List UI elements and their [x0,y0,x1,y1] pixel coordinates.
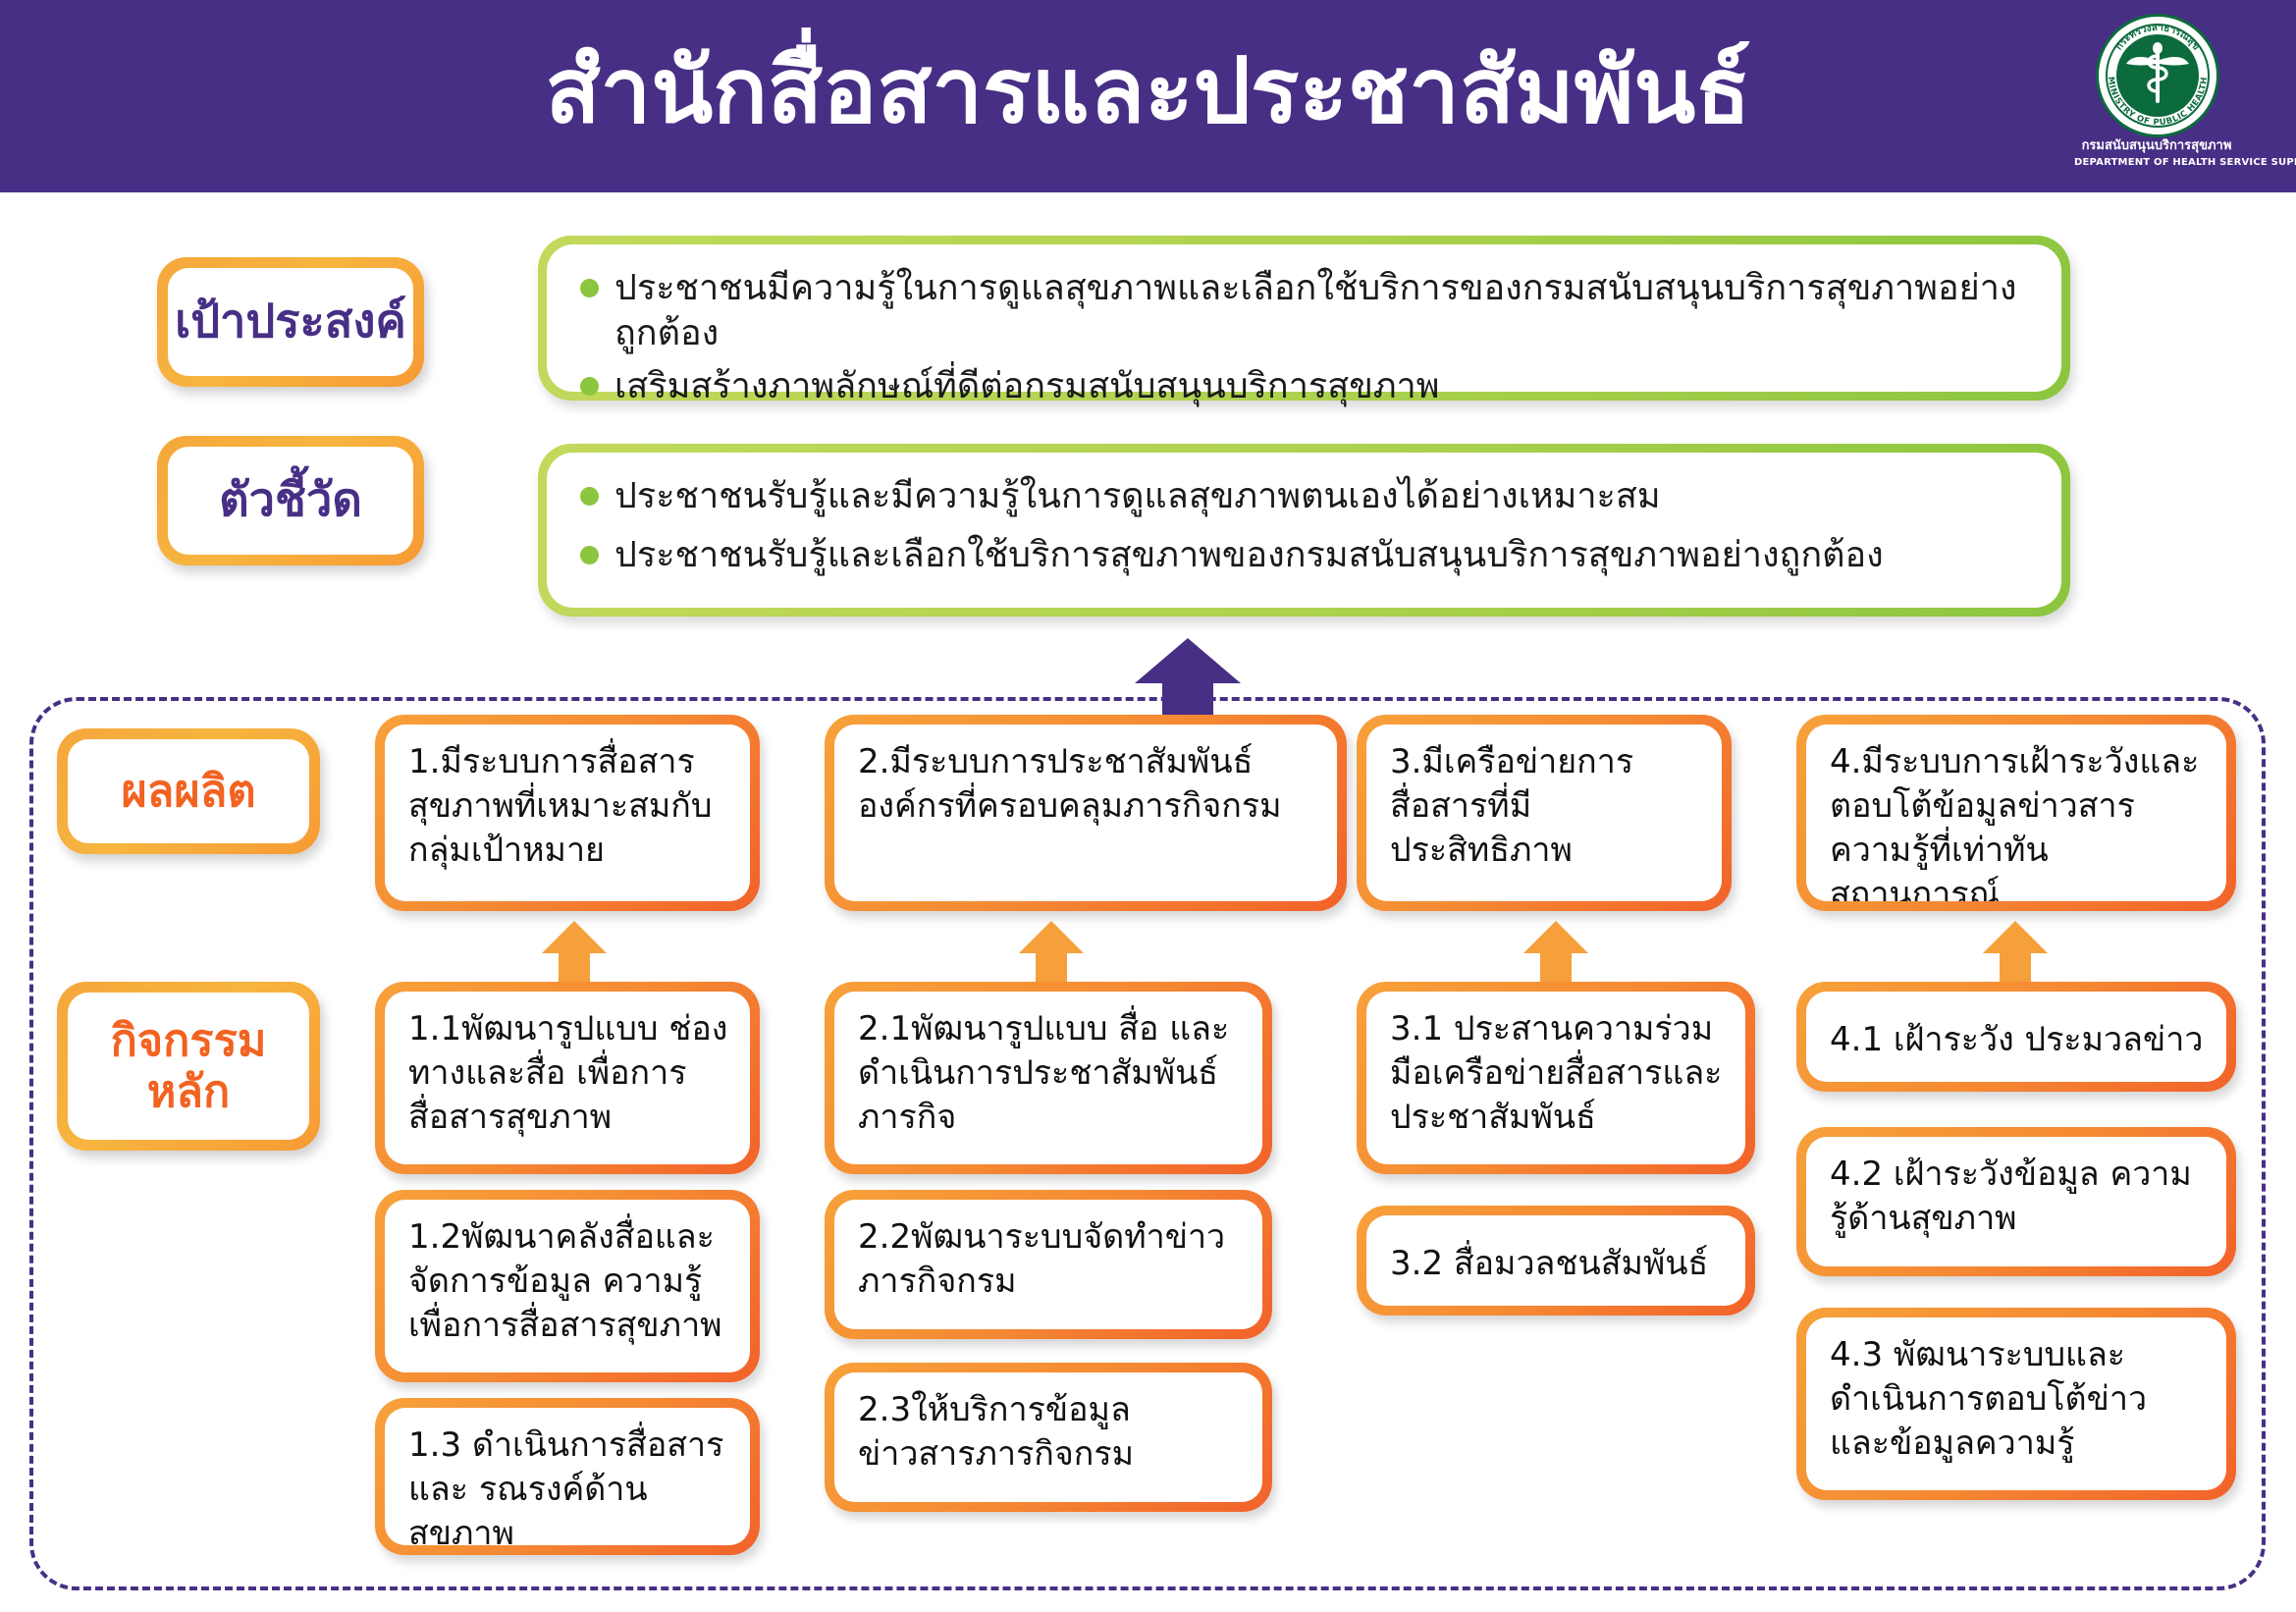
label-activity: กิจกรรม หลัก [57,982,320,1151]
output-box-4-text: 4.มีระบบการเฝ้าระวังและตอบโต้ข้อมูลข่าวส… [1806,725,2226,901]
logo-caption-en: DEPARTMENT OF HEALTH SERVICE SUPPORT [2074,157,2239,168]
activity-box-3-1[interactable]: 3.1 ประสานความร่วมมือเครือข่ายสื่อสารและ… [1357,982,1755,1174]
activity-box-4-1[interactable]: 4.1 เฝ้าระวัง ประมวลข่าว [1796,982,2236,1092]
kpi-content-box: ประชาชนรับรู้และมีความรู้ในการดูแลสุขภาพ… [538,444,2070,617]
activity-box-1-2[interactable]: 1.2พัฒนาคลังสื่อและจัดการข้อมูล ความรู้ … [375,1190,760,1382]
kpi-bullet-text: ประชาชนรับรู้และเลือกใช้บริการสุขภาพของก… [614,533,1884,578]
label-activity-line-1: กิจกรรม [111,1015,267,1066]
activity-box-2-2-text: 2.2พัฒนาระบบจัดทำข่าวภารกิจกรม [834,1200,1262,1329]
activity-box-3-2[interactable]: 3.2 สื่อมวลชนสัมพันธ์ [1357,1206,1755,1316]
goal-bullet-text: เสริมสร้างภาพลักษณ์ที่ดีต่อกรมสนับสนุนบร… [614,364,1440,409]
activity-box-4-3-text: 4.3 พัฒนาระบบและดำเนินการตอบโต้ข่าวและข้… [1806,1317,2226,1490]
output-box-3-text: 3.มีเครือข่ายการสื่อสารที่มีประสิทธิภาพ [1366,725,1722,901]
output-box-4[interactable]: 4.มีระบบการเฝ้าระวังและตอบโต้ข้อมูลข่าวส… [1796,715,2236,911]
list-item: ประชาชนรับรู้และมีความรู้ในการดูแลสุขภาพ… [580,474,2032,519]
label-goal: เป้าประสงค์ [157,257,424,387]
list-item: เสริมสร้างภาพลักษณ์ที่ดีต่อกรมสนับสนุนบร… [580,364,2032,409]
output-box-1[interactable]: 1.มีระบบการสื่อสารสุขภาพที่เหมาะสมกับกลุ… [375,715,760,911]
bullet-dot-icon [580,487,599,506]
activity-box-2-1-text: 2.1พัฒนารูปแบบ สื่อ และดำเนินการประชาสัม… [834,992,1262,1164]
bullet-dot-icon [580,546,599,564]
goal-content-box: ประชาชนมีความรู้ในการดูแลสุขภาพและเลือกใ… [538,236,2070,401]
orange-up-arrow-icon-4 [1983,921,2048,982]
activity-box-4-2[interactable]: 4.2 เฝ้าระวังข้อมูล ความรู้ด้านสุขภาพ [1796,1127,2236,1276]
bullet-dot-icon [580,377,599,396]
label-goal-text: เป้าประสงค์ [168,268,413,376]
activity-box-4-2-text: 4.2 เฝ้าระวังข้อมูล ความรู้ด้านสุขภาพ [1806,1137,2226,1266]
activity-box-4-1-text: 4.1 เฝ้าระวัง ประมวลข่าว [1806,992,2226,1082]
activity-box-1-2-text: 1.2พัฒนาคลังสื่อและจัดการข้อมูล ความรู้ … [385,1200,750,1372]
activity-box-1-1-text: 1.1พัฒนารูปแบบ ช่องทางและสื่อ เพื่อการสื… [385,992,750,1164]
label-activity-text: กิจกรรม หลัก [68,993,309,1140]
label-kpi: ตัวชี้วัด [157,436,424,565]
output-box-3[interactable]: 3.มีเครือข่ายการสื่อสารที่มีประสิทธิภาพ [1357,715,1732,911]
activity-box-3-1-text: 3.1 ประสานความร่วมมือเครือข่ายสื่อสารและ… [1366,992,1745,1164]
label-kpi-text: ตัวชี้วัด [168,447,413,555]
activity-box-4-3[interactable]: 4.3 พัฒนาระบบและดำเนินการตอบโต้ข่าวและข้… [1796,1308,2236,1500]
goal-bullet-text: ประชาชนมีความรู้ในการดูแลสุขภาพและเลือกใ… [614,266,2032,356]
list-item: ประชาชนรับรู้และเลือกใช้บริการสุขภาพของก… [580,533,2032,578]
orange-up-arrow-icon-2 [1019,921,1084,982]
page-title: สำนักสื่อสารและประชาสัมพันธ์ [0,0,2296,192]
output-box-2[interactable]: 2.มีระบบการประชาสัมพันธ์องค์กรที่ครอบคลุ… [825,715,1347,911]
kpi-bullet-text: ประชาชนรับรู้และมีความรู้ในการดูแลสุขภาพ… [614,474,1661,519]
infographic-page: สำนักสื่อสารและประชาสัมพันธ์ กระทรวงสาธา… [0,0,2296,1612]
list-item: ประชาชนมีความรู้ในการดูแลสุขภาพและเลือกใ… [580,266,2032,356]
activity-box-1-3-text: 1.3 ดำเนินการสื่อสาร และ รณรงค์ด้านสุขภา… [385,1408,750,1545]
activity-box-2-3-text: 2.3ให้บริการข้อมูลข่าวสารภารกิจกรม [834,1372,1262,1502]
label-output: ผลผลิต [57,728,320,854]
page-header: สำนักสื่อสารและประชาสัมพันธ์ กระทรวงสาธา… [0,0,2296,192]
ministry-logo: กระทรวงสาธารณสุข MINISTRY OF PUBLIC HEAL… [2074,12,2239,185]
orange-up-arrow-icon-3 [1523,921,1588,982]
activity-box-1-1[interactable]: 1.1พัฒนารูปแบบ ช่องทางและสื่อ เพื่อการสื… [375,982,760,1174]
output-box-1-text: 1.มีระบบการสื่อสารสุขภาพที่เหมาะสมกับกลุ… [385,725,750,901]
activity-box-1-3[interactable]: 1.3 ดำเนินการสื่อสาร และ รณรงค์ด้านสุขภา… [375,1398,760,1555]
activity-box-2-3[interactable]: 2.3ให้บริการข้อมูลข่าวสารภารกิจกรม [825,1363,1272,1512]
activity-box-3-2-text: 3.2 สื่อมวลชนสัมพันธ์ [1366,1215,1745,1306]
logo-caption-th: กรมสนับสนุนบริการสุขภาพ [2074,139,2239,153]
label-activity-line-2: หลัก [111,1066,267,1117]
caduceus-icon [2116,34,2199,117]
bullet-dot-icon [580,279,599,297]
orange-up-arrow-icon-1 [542,921,607,982]
activity-box-2-2[interactable]: 2.2พัฒนาระบบจัดทำข่าวภารกิจกรม [825,1190,1272,1339]
label-output-text: ผลผลิต [68,739,309,843]
output-box-2-text: 2.มีระบบการประชาสัมพันธ์องค์กรที่ครอบคลุ… [834,725,1337,901]
activity-box-2-1[interactable]: 2.1พัฒนารูปแบบ สื่อ และดำเนินการประชาสัม… [825,982,1272,1174]
